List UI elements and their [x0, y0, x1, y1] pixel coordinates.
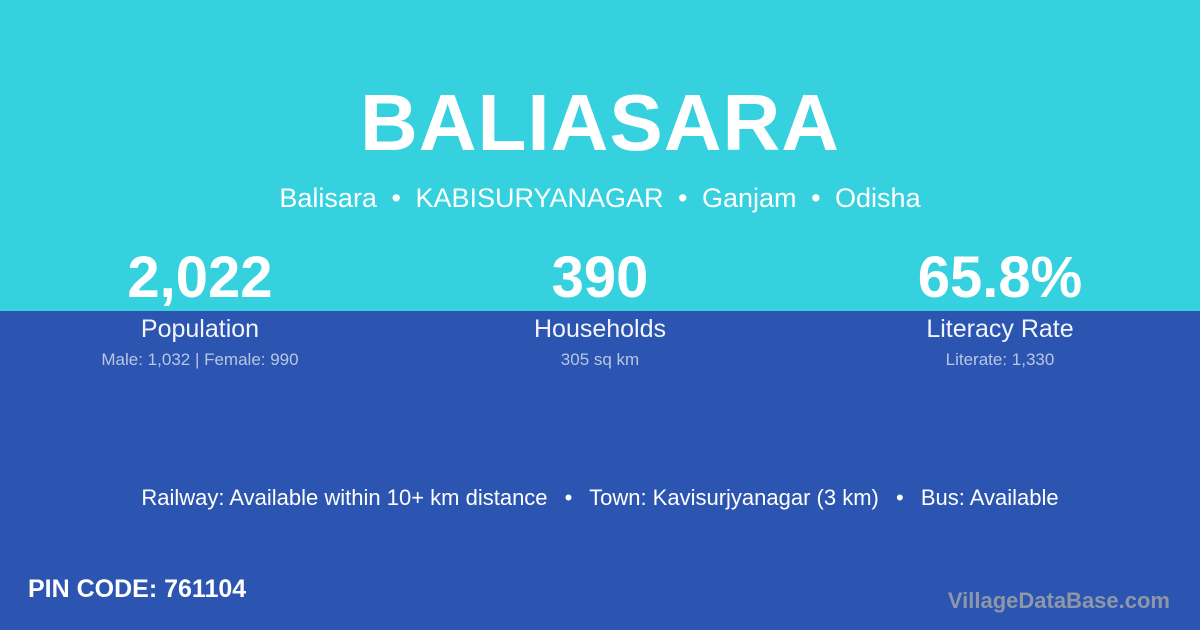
village-info-card: BALIASARA Balisara • KABISURYANAGAR • Ga… — [0, 0, 1200, 630]
site-watermark: VillageDataBase.com — [948, 588, 1170, 614]
amenity-bus: Bus: Available — [921, 485, 1059, 510]
breadcrumb-district: Ganjam — [702, 183, 797, 213]
pin-code: PIN CODE: 761104 — [28, 575, 246, 604]
stat-sub-population: Male: 1,032 | Female: 990 — [0, 350, 400, 370]
stat-block-households: 390 Households 305 sq km — [400, 243, 800, 370]
breadcrumb-state: Odisha — [835, 183, 921, 213]
stat-block-population: 2,022 Population Male: 1,032 | Female: 9… — [0, 243, 400, 370]
amenity-railway: Railway: Available within 10+ km distanc… — [141, 485, 547, 510]
breadcrumb-separator-3: • — [804, 183, 827, 213]
amenities-separator-2: • — [885, 485, 915, 510]
breadcrumb-block: KABISURYANAGAR — [415, 183, 663, 213]
stat-block-literacy-rate: 65.8% Literacy Rate Literate: 1,330 — [800, 243, 1200, 370]
stats-row: 2,022 Population Male: 1,032 | Female: 9… — [0, 243, 1200, 370]
amenities-line: Railway: Available within 10+ km distanc… — [0, 485, 1200, 511]
breadcrumb-separator-1: • — [384, 183, 407, 213]
stat-label-population: Population — [0, 314, 400, 344]
breadcrumb-panchayat: Balisara — [279, 183, 377, 213]
amenity-town: Town: Kavisurjyanagar (3 km) — [589, 485, 879, 510]
stat-sub-literacy-rate: Literate: 1,330 — [800, 350, 1200, 370]
stat-label-literacy-rate: Literacy Rate — [800, 314, 1200, 344]
stat-value-population: 2,022 — [0, 243, 400, 312]
breadcrumb: Balisara • KABISURYANAGAR • Ganjam • Odi… — [0, 183, 1200, 214]
stat-label-households: Households — [400, 314, 800, 344]
stat-value-households: 390 — [400, 243, 800, 312]
stat-sub-households: 305 sq km — [400, 350, 800, 370]
page-title: BALIASARA — [0, 83, 1200, 163]
amenities-separator-1: • — [554, 485, 584, 510]
stat-value-literacy-rate: 65.8% — [800, 243, 1200, 312]
breadcrumb-separator-2: • — [671, 183, 694, 213]
